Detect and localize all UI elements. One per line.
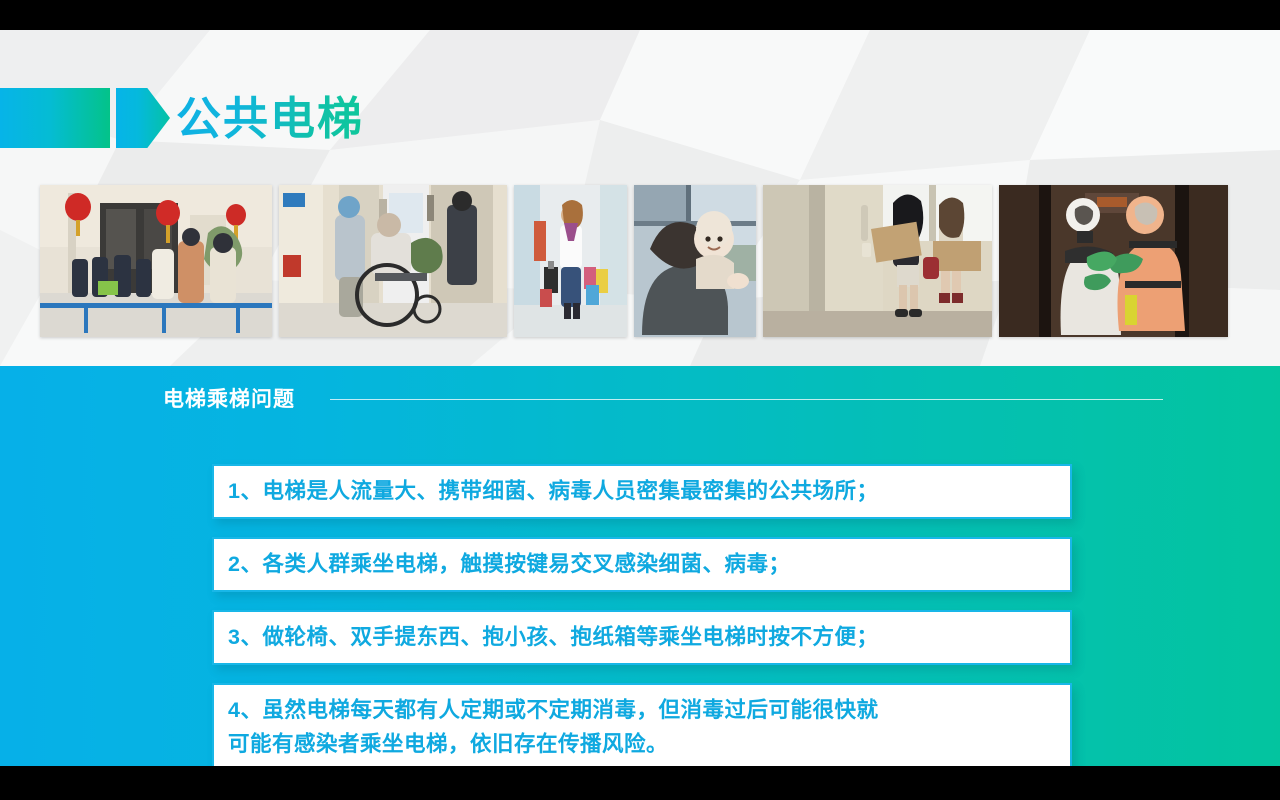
wheelchair-elevator-photo [279,185,507,337]
section-divider-rule [330,399,1163,400]
hospital-queue-photo [40,185,272,337]
problem-card-text: 2、各类人群乘坐电梯，触摸按键易交叉感染细菌、病毒； [228,547,1056,581]
carrying-baby-photo [634,185,756,337]
problem-card-text: 1、电梯是人流量大、携带细菌、病毒人员密集最密集的公共场所； [228,474,1056,508]
problem-card-2[interactable]: 2、各类人群乘坐电梯，触摸按键易交叉感染细菌、病毒； [212,537,1072,592]
problem-card-1[interactable]: 1、电梯是人流量大、携带细菌、病毒人员密集最密集的公共场所； [212,464,1072,519]
shopping-bags-photo [514,185,627,337]
letterbox-bottom-bar [0,766,1280,800]
page-title: 公共电梯 [176,88,364,150]
header-banner-graphic [0,88,170,148]
photo-strip [40,185,1220,337]
section-title: 电梯乘梯问题 [163,383,295,413]
problem-card-text: 3、做轮椅、双手提东西、抱小孩、抱纸箱等乘坐电梯时按不方便； [228,620,1056,654]
slide-lower-section: 电梯乘梯问题 1、电梯是人流量大、携带细菌、病毒人员密集最密集的公共场所； 2、… [0,366,1280,766]
hazmat-disinfection-photo [999,185,1228,337]
banner-arrow-shape [116,88,170,148]
section-header: 电梯乘梯问题 [163,383,1163,413]
problem-card-4[interactable]: 4、虽然电梯每天都有人定期或不定期消毒，但消毒过后可能很快就 可能有感染者乘坐电… [212,683,1072,766]
slide-canvas: 公共电梯 [0,30,1280,766]
problem-card-3[interactable]: 3、做轮椅、双手提东西、抱小孩、抱纸箱等乘坐电梯时按不方便； [212,610,1072,665]
problem-card-list: 1、电梯是人流量大、携带细菌、病毒人员密集最密集的公共场所； 2、各类人群乘坐电… [212,464,1072,766]
letterbox-top-bar [0,0,1280,30]
problem-card-text: 4、虽然电梯每天都有人定期或不定期消毒，但消毒过后可能很快就 可能有感染者乘坐电… [228,693,1056,761]
slide-upper-section: 公共电梯 [0,30,1280,366]
carrying-boxes-photo [763,185,992,337]
banner-bar-shape [0,88,110,148]
presentation-slide-frame: 公共电梯 [0,0,1280,800]
